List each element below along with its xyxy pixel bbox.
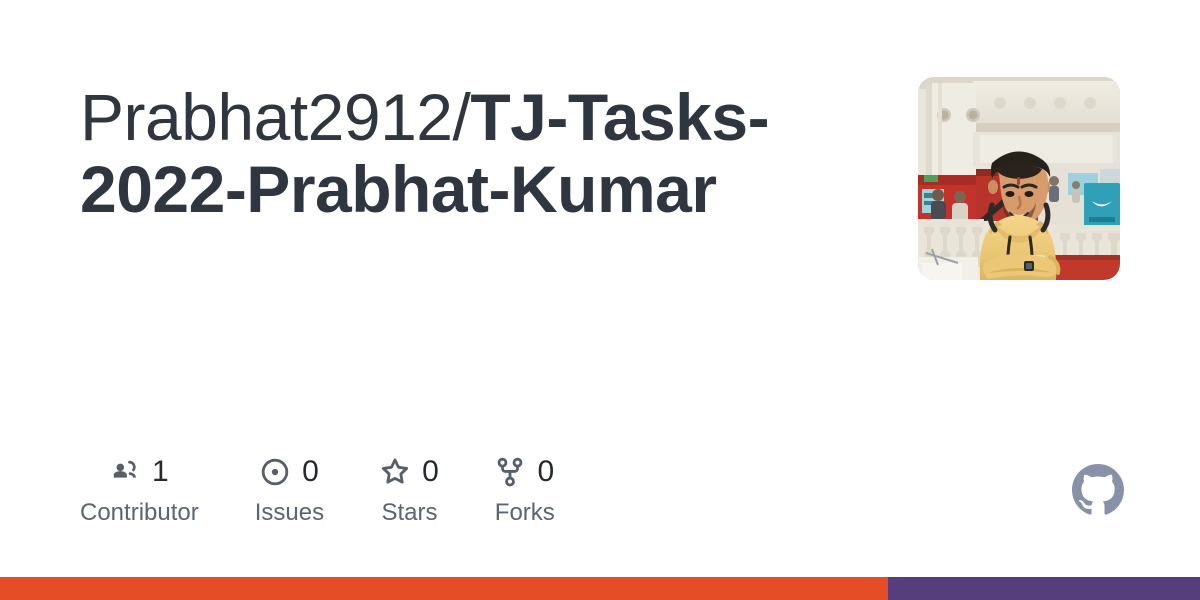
issue-opened-icon <box>260 457 290 487</box>
language-segment-css <box>888 577 1200 600</box>
stat-label: Contributor <box>80 501 199 525</box>
stat-count: 0 <box>302 457 319 487</box>
github-mark-icon <box>1072 464 1124 516</box>
repository-stats: 1 Contributor 0 Issues <box>80 452 611 525</box>
stat-top-row: 0 <box>260 452 319 492</box>
stat-label: Forks <box>495 501 555 525</box>
stat-count: 1 <box>152 457 169 487</box>
name-separator: / <box>453 80 471 154</box>
stat-count: 0 <box>422 457 439 487</box>
star-icon <box>380 457 410 487</box>
stat-count: 0 <box>537 457 554 487</box>
stat-issues: 0 Issues <box>255 452 324 525</box>
stat-stars: 0 Stars <box>380 452 439 525</box>
page-title: Prabhat2912/TJ-Tasks-2022-Prabhat-Kumar <box>80 82 870 226</box>
stat-label: Stars <box>381 501 437 525</box>
stat-contributors: 1 Contributor <box>80 452 199 525</box>
language-bar <box>0 577 1200 600</box>
stat-top-row: 0 <box>495 452 554 492</box>
repository-owner: Prabhat2912 <box>80 80 453 154</box>
people-icon <box>110 457 140 487</box>
stat-forks: 0 Forks <box>495 452 555 525</box>
language-segment-html <box>0 577 888 600</box>
stat-top-row: 1 <box>110 452 169 492</box>
stat-top-row: 0 <box>380 452 439 492</box>
repo-forked-icon <box>495 457 525 487</box>
repository-full-name: Prabhat2912/TJ-Tasks-2022-Prabhat-Kumar <box>80 82 870 226</box>
stat-label: Issues <box>255 501 324 525</box>
avatar <box>918 77 1120 280</box>
repository-social-preview-card: Prabhat2912/TJ-Tasks-2022-Prabhat-Kumar <box>0 0 1200 600</box>
